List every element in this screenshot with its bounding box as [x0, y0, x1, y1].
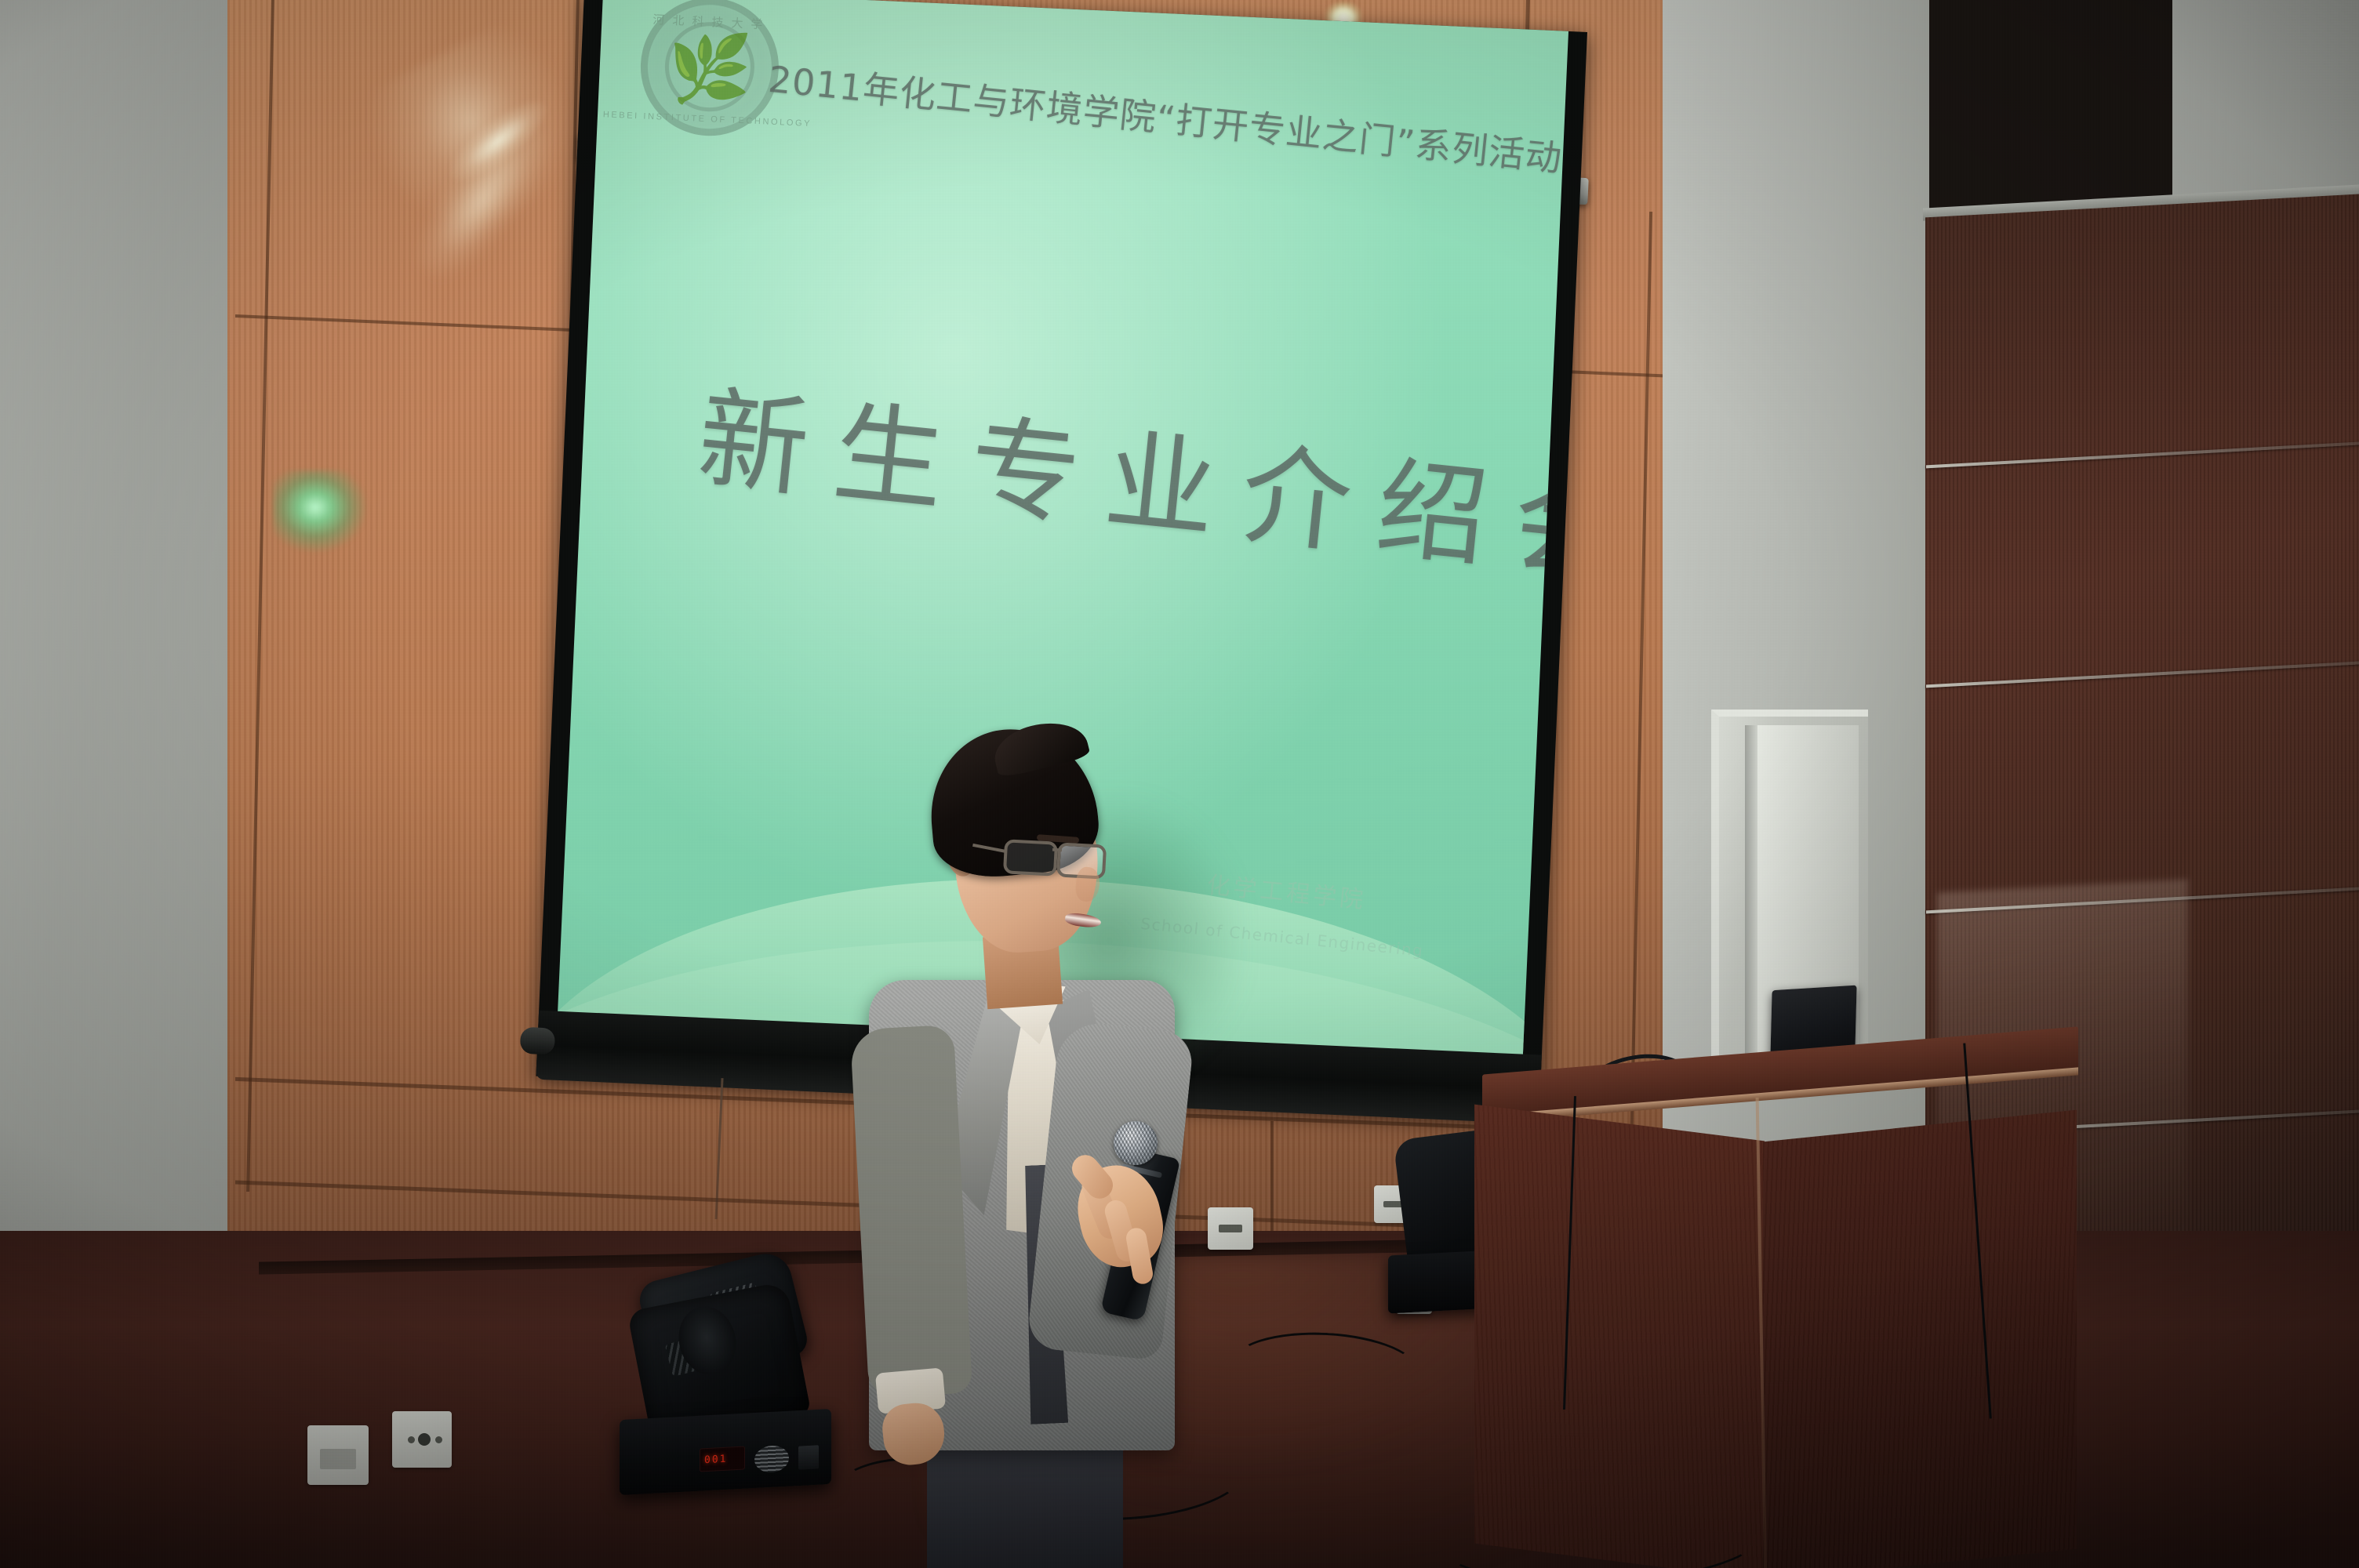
network-jack-plate [307, 1425, 369, 1485]
university-logo: 河北科技大学 🌿 HEBEI INSTITUTE OF TECHNOLOGY [638, 0, 782, 139]
slide-header-text: 2011年化工与环境学院“打开专业之门”系列活动 [766, 51, 1565, 183]
stage-light-led-panel [798, 1445, 819, 1469]
stage-light-brand-label [629, 1451, 632, 1461]
presenter-left-arm [850, 1025, 972, 1398]
dmx-display-value: 001 [704, 1454, 727, 1467]
leaf-emblem-icon: 🌿 [666, 34, 753, 105]
presenter-speaking [855, 729, 1184, 1568]
screen-bar-knob [520, 1027, 555, 1055]
eyeglasses-left-lens [1003, 839, 1058, 876]
stage-light-dmx-display: 001 [700, 1446, 745, 1472]
slide-title-text: 新生专业介绍会 [692, 350, 1568, 605]
logo-english-name: HEBEI INSTITUTE OF TECHNOLOGY [603, 110, 812, 129]
moving-head-stage-light: 001 [620, 1254, 831, 1490]
microphone-mesh-texture [1114, 1121, 1158, 1165]
eyeglasses-bridge [1052, 848, 1062, 852]
lecture-hall-photo: 河北科技大学 🌿 HEBEI INSTITUTE OF TECHNOLOGY 2… [0, 0, 2359, 1568]
stage-light-brand-label [1396, 1283, 1398, 1292]
wooden-lectern[interactable] [1474, 1051, 2086, 1568]
power-outlet-plate [392, 1411, 452, 1468]
side-outlet-plate [1208, 1207, 1253, 1250]
doorway-jamb [1745, 725, 1757, 1078]
green-light-spot-on-wall [273, 470, 367, 553]
lectern-right-face [1763, 1110, 2077, 1568]
